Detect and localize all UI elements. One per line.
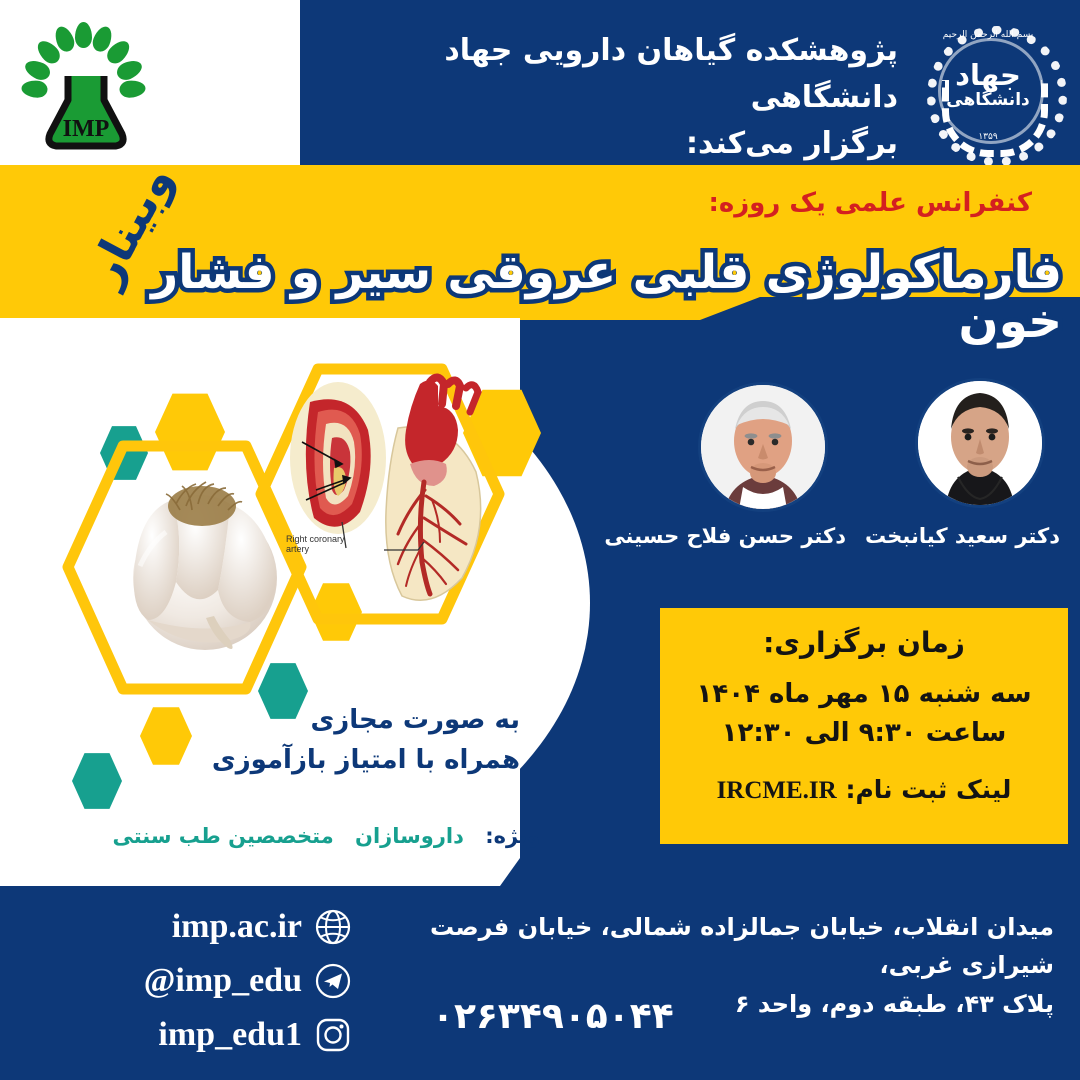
- registration-row[interactable]: لینک ثبت نام: IRCME.IR: [676, 775, 1052, 805]
- conference-kicker: کنفرانس علمی یک روزه:: [512, 188, 1032, 218]
- flask-icon: IMP: [44, 74, 128, 150]
- jahad-name: جهاد: [918, 58, 1058, 92]
- contact-website[interactable]: imp.ac.ir: [22, 904, 352, 950]
- imp-logo: IMP: [26, 22, 146, 152]
- contact-list: imp.ac.ir @imp_edu imp_edu1: [22, 904, 352, 1066]
- speaker-card-1: دکتر حسن فلاح حسینی: [698, 382, 828, 512]
- jahad-subname: دانشگاهی: [918, 90, 1058, 110]
- speaker-avatar-1: [698, 382, 828, 512]
- website-text[interactable]: imp.ac.ir: [172, 908, 302, 946]
- speaker-card-0: دکتر سعید کیانبخت: [915, 378, 1045, 508]
- telegram-icon: [314, 962, 352, 1000]
- audience-item-1: متخصصین طب سنتی: [112, 824, 333, 848]
- globe-icon: [314, 908, 352, 946]
- coronary-artery-label: Right coronary artery: [286, 534, 345, 555]
- event-time: ساعت ۹:۳۰ الی ۱۲:۳۰: [676, 714, 1052, 753]
- jahad-year: ۱۳۵۹: [918, 132, 1058, 142]
- garlic-bulb-image: [110, 470, 300, 660]
- jahad-daneshgahi-logo: بسم الله الرحمن الرحیم جهاد دانشگاهی ۱۳۵…: [918, 14, 1058, 156]
- coronary-label-line-1: Right coronary: [286, 534, 345, 544]
- registration-label: لینک ثبت نام:: [845, 775, 1011, 804]
- instagram-icon: [314, 1016, 352, 1054]
- event-time-heading: زمان برگزاری:: [676, 626, 1052, 659]
- coronary-label-line-2: artery: [286, 544, 309, 554]
- address-line-1: میدان انقلاب، خیابان جمالزاده شمالی، خیا…: [374, 908, 1054, 985]
- delivery-mode-line-2: همراه با امتیاز بازآموزی: [100, 740, 520, 780]
- delivery-mode-block: به صورت مجازی همراه با امتیاز بازآموزی: [100, 700, 520, 781]
- phone-number[interactable]: ۰۲۶۳۴۹۰۵۰۴۴: [432, 996, 674, 1037]
- footer: imp.ac.ir @imp_edu imp_edu1 میدان انقل: [0, 886, 1080, 1080]
- delivery-mode-line-1: به صورت مجازی: [100, 700, 520, 740]
- event-date: سه شنبه ۱۵ مهر ماه ۱۴۰۴: [676, 675, 1052, 714]
- event-info-box: زمان برگزاری: سه شنبه ۱۵ مهر ماه ۱۴۰۴ سا…: [660, 608, 1068, 844]
- coronary-artery-heart-image: [280, 372, 495, 627]
- header-line-1: پژوهشکده گیاهان دارویی جهاد دانشگاهی: [338, 28, 898, 121]
- audience-label: ویژه:: [485, 824, 540, 848]
- contact-instagram[interactable]: imp_edu1: [22, 1012, 352, 1058]
- telegram-text[interactable]: @imp_edu: [144, 962, 302, 1000]
- poster-root: IMP پژوهشکده گیاهان دارویی جهاد دانشگاهی…: [0, 0, 1080, 1080]
- registration-link[interactable]: IRCME.IR: [717, 777, 837, 805]
- speaker-name-1: دکتر حسن فلاح حسینی: [680, 524, 846, 548]
- speaker-name-0: دکتر سعید کیانبخت: [900, 524, 1060, 548]
- audience-row: ویژه: داروسازان متخصصین طب سنتی: [100, 824, 540, 848]
- imp-logo-text: IMP: [63, 116, 110, 142]
- speaker-avatar-0: [915, 378, 1045, 508]
- jahad-bismillah: بسم الله الرحمن الرحیم: [918, 30, 1058, 40]
- audience-item-0: داروسازان: [355, 824, 464, 848]
- header-line-2: برگزار می‌کند:: [338, 121, 898, 168]
- contact-telegram[interactable]: @imp_edu: [22, 958, 352, 1004]
- header-title-block: پژوهشکده گیاهان دارویی جهاد دانشگاهی برگ…: [338, 28, 898, 168]
- instagram-text[interactable]: imp_edu1: [158, 1016, 302, 1054]
